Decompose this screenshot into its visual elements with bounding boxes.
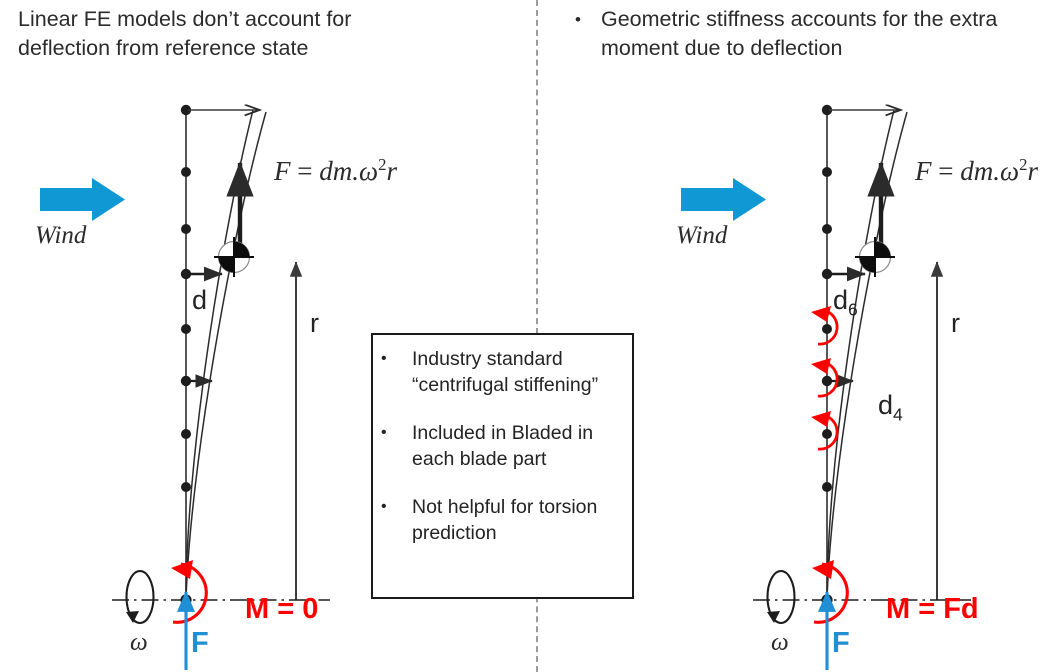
formula-omega: ω <box>359 156 378 186</box>
force-label: F <box>191 627 209 660</box>
formula-equals: = <box>297 156 312 186</box>
bullet-glyph: • <box>381 420 412 446</box>
formula-radius: r <box>386 156 397 186</box>
callout-item-text: Included in Bladed in each blade part <box>412 420 622 472</box>
deflected-blade-edge-leading <box>186 112 266 600</box>
slide-canvas: • Linear FE models don’t account for def… <box>0 0 1062 672</box>
force-formula: F = dm.ω2r <box>274 155 397 187</box>
formula-lhs: F <box>274 156 291 186</box>
moment-arc-root <box>171 560 206 622</box>
radius-label: r <box>951 308 960 339</box>
wind-arrow-icon <box>40 178 126 222</box>
callout-box: • Industry standard “centrifugal stiffen… <box>371 333 634 599</box>
deflection-d6-sub: 6 <box>848 299 858 319</box>
moment-label: M = 0 <box>245 593 318 626</box>
formula-radius: r <box>1027 156 1038 186</box>
blade-node <box>181 429 191 439</box>
blade-node <box>822 429 832 439</box>
moment-label: M = Fd <box>886 593 979 626</box>
deflection-d4-base: d <box>878 390 893 420</box>
callout-item: • Not helpful for torsion prediction <box>381 494 622 546</box>
rotation-label-omega: ω <box>771 629 789 657</box>
callout-item-text: Not helpful for torsion prediction <box>412 494 622 546</box>
formula-dm: dm. <box>319 156 359 186</box>
rotation-indicator-icon <box>126 571 154 623</box>
moment-arc-root <box>812 560 847 622</box>
formula-lhs: F <box>915 156 932 186</box>
bullet-glyph: • <box>381 346 412 372</box>
rotation-indicator-icon <box>767 571 795 623</box>
formula-equals: = <box>938 156 953 186</box>
blade-node <box>181 482 191 492</box>
callout-item-text: Industry standard “centrifugal stiffenin… <box>412 346 622 398</box>
blade-node <box>822 224 832 234</box>
blade-node <box>822 482 832 492</box>
blade-node <box>181 324 191 334</box>
radius-label: r <box>310 308 319 339</box>
bullet-glyph: • <box>381 494 412 520</box>
blade-node <box>822 167 832 177</box>
deflection-label-d: d <box>192 285 207 316</box>
rotation-label-omega: ω <box>130 629 148 657</box>
callout-item: • Industry standard “centrifugal stiffen… <box>381 346 622 398</box>
deflected-blade-edge-trailing <box>827 110 894 600</box>
deflection-label-d6: d6 <box>833 285 858 320</box>
force-label: F <box>832 627 850 660</box>
force-formula: F = dm.ω2r <box>915 155 1038 187</box>
deflection-d6-base: d <box>833 285 848 315</box>
deflection-label-d4: d4 <box>878 390 903 425</box>
formula-dm: dm. <box>960 156 1000 186</box>
wind-arrow-icon <box>681 178 767 222</box>
blade-node <box>181 224 191 234</box>
callout-item: • Included in Bladed in each blade part <box>381 420 622 472</box>
wind-label: Wind <box>676 222 727 250</box>
wind-label: Wind <box>35 222 86 250</box>
deflected-blade-edge-trailing <box>186 110 253 600</box>
deflected-blade-edge-leading <box>827 112 907 600</box>
formula-omega: ω <box>1000 156 1019 186</box>
deflection-d4-sub: 4 <box>893 404 903 424</box>
blade-node <box>181 167 191 177</box>
blade-node <box>822 324 832 334</box>
